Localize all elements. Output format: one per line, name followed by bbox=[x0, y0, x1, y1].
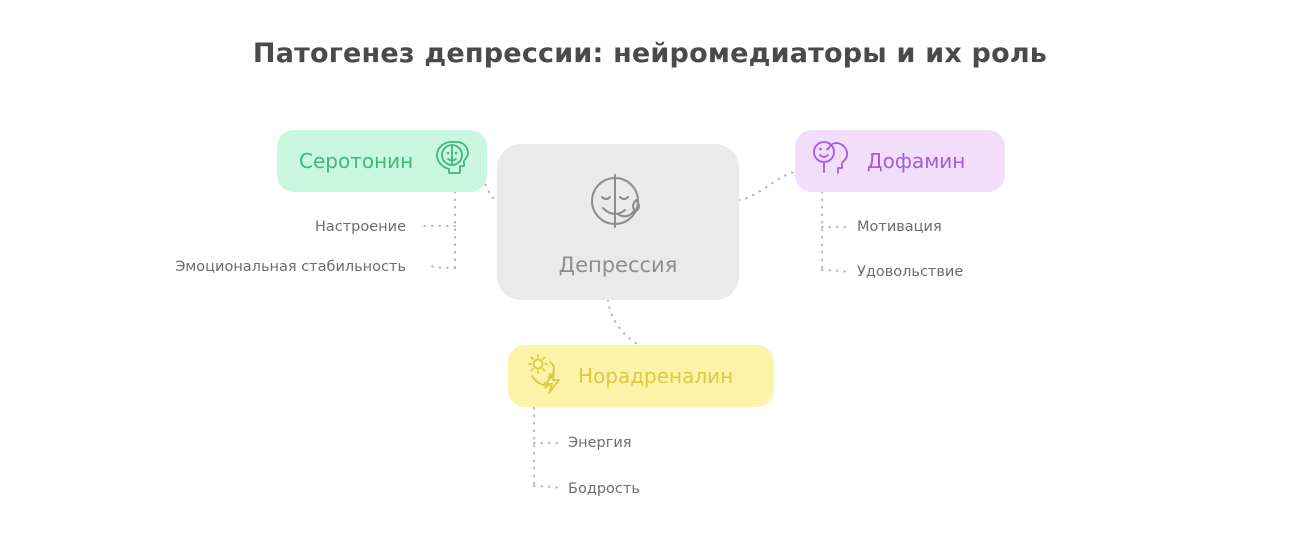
head-with-smiley-face-icon bbox=[811, 138, 853, 184]
connector-center-to-dofamin bbox=[739, 172, 795, 200]
connector-serotonin-leaf-2 bbox=[430, 266, 455, 268]
node-noradrenaline-label: Норадреналин bbox=[578, 364, 733, 388]
leaf-noradrenaline-energy: Энергия bbox=[568, 435, 632, 451]
leaf-noradrenaline-vigor: Бодрость bbox=[568, 481, 640, 497]
node-serotonin[interactable]: Серотонин bbox=[277, 130, 487, 192]
leaf-serotonin-emotional-stability: Эмоциональная стабильность bbox=[110, 259, 406, 275]
connector-center-to-noradrenalin bbox=[608, 300, 640, 345]
half-happy-half-sad-face-icon bbox=[584, 167, 652, 239]
leaf-dopamine-motivation: Мотивация bbox=[857, 219, 942, 235]
node-noradrenaline[interactable]: Норадреналин bbox=[508, 345, 774, 407]
leaf-serotonin-mood: Настроение bbox=[110, 219, 406, 235]
connector-noradrenalin-leaf-2 bbox=[534, 486, 562, 488]
node-dopamine[interactable]: Дофамин bbox=[795, 130, 1005, 192]
node-depression-label: Депрессия bbox=[559, 253, 678, 277]
node-depression[interactable]: Депрессия bbox=[497, 144, 739, 300]
head-with-brain-icon bbox=[433, 138, 471, 184]
connector-dofamin-leaf-2 bbox=[822, 270, 850, 272]
leaf-dopamine-pleasure: Удовольствие bbox=[857, 264, 963, 280]
mindmap-canvas: Патогенез депрессии: нейромедиаторы и их… bbox=[0, 0, 1300, 546]
node-dopamine-label: Дофамин bbox=[867, 149, 965, 173]
sun-and-lightning-bolt-icon bbox=[524, 352, 568, 400]
node-serotonin-label: Серотонин bbox=[299, 149, 413, 173]
